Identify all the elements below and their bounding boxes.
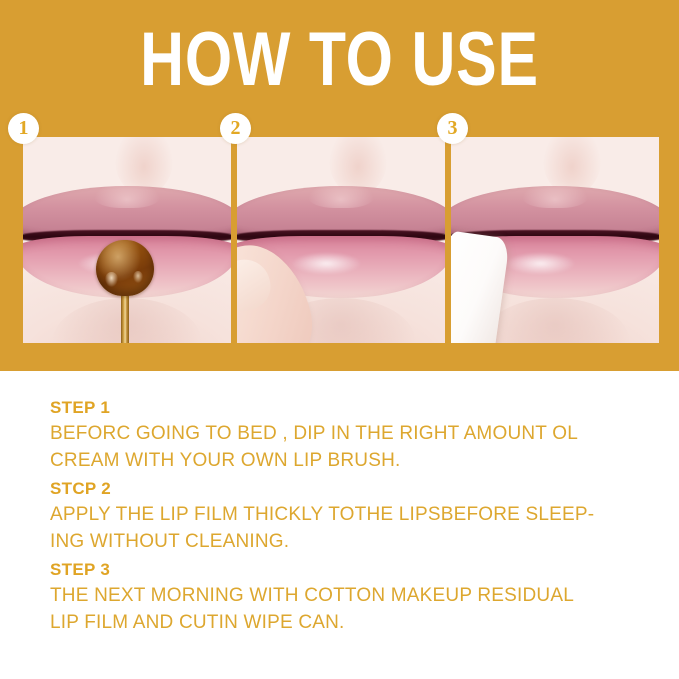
step-badge-2: 2 [220, 113, 251, 144]
step-photo-3 [451, 137, 659, 343]
instructions-list: STEP 1 BEFORC GOING TO BED , DIP IN THE … [50, 396, 650, 639]
step-badge-3: 3 [437, 113, 468, 144]
step-1-heading: STEP 1 [50, 396, 650, 420]
step-photo-2 [237, 137, 445, 343]
step-badge-1: 1 [8, 113, 39, 144]
photo-strip [23, 137, 661, 343]
lip-brush-cream-tip [96, 240, 154, 296]
step-3-heading: STEP 3 [50, 558, 650, 582]
step-3-body: THE NEXT MORNING WITH COTTON MAKEUP RESI… [50, 582, 650, 636]
step-2-heading: STCP 2 [50, 477, 650, 501]
how-to-use-infographic: HOW TO USE [0, 0, 679, 679]
step-1-body: BEFORC GOING TO BED , DIP IN THE RIGHT A… [50, 420, 650, 474]
lip-gloss-highlight [291, 252, 362, 275]
step-photo-1 [23, 137, 231, 343]
lip-gloss-highlight [505, 252, 576, 275]
page-title: HOW TO USE [68, 22, 611, 98]
step-2-body: APPLY THE LIP FILM THICKLY TOTHE LIPSBEF… [50, 501, 650, 555]
gold-banner: HOW TO USE [0, 0, 679, 371]
